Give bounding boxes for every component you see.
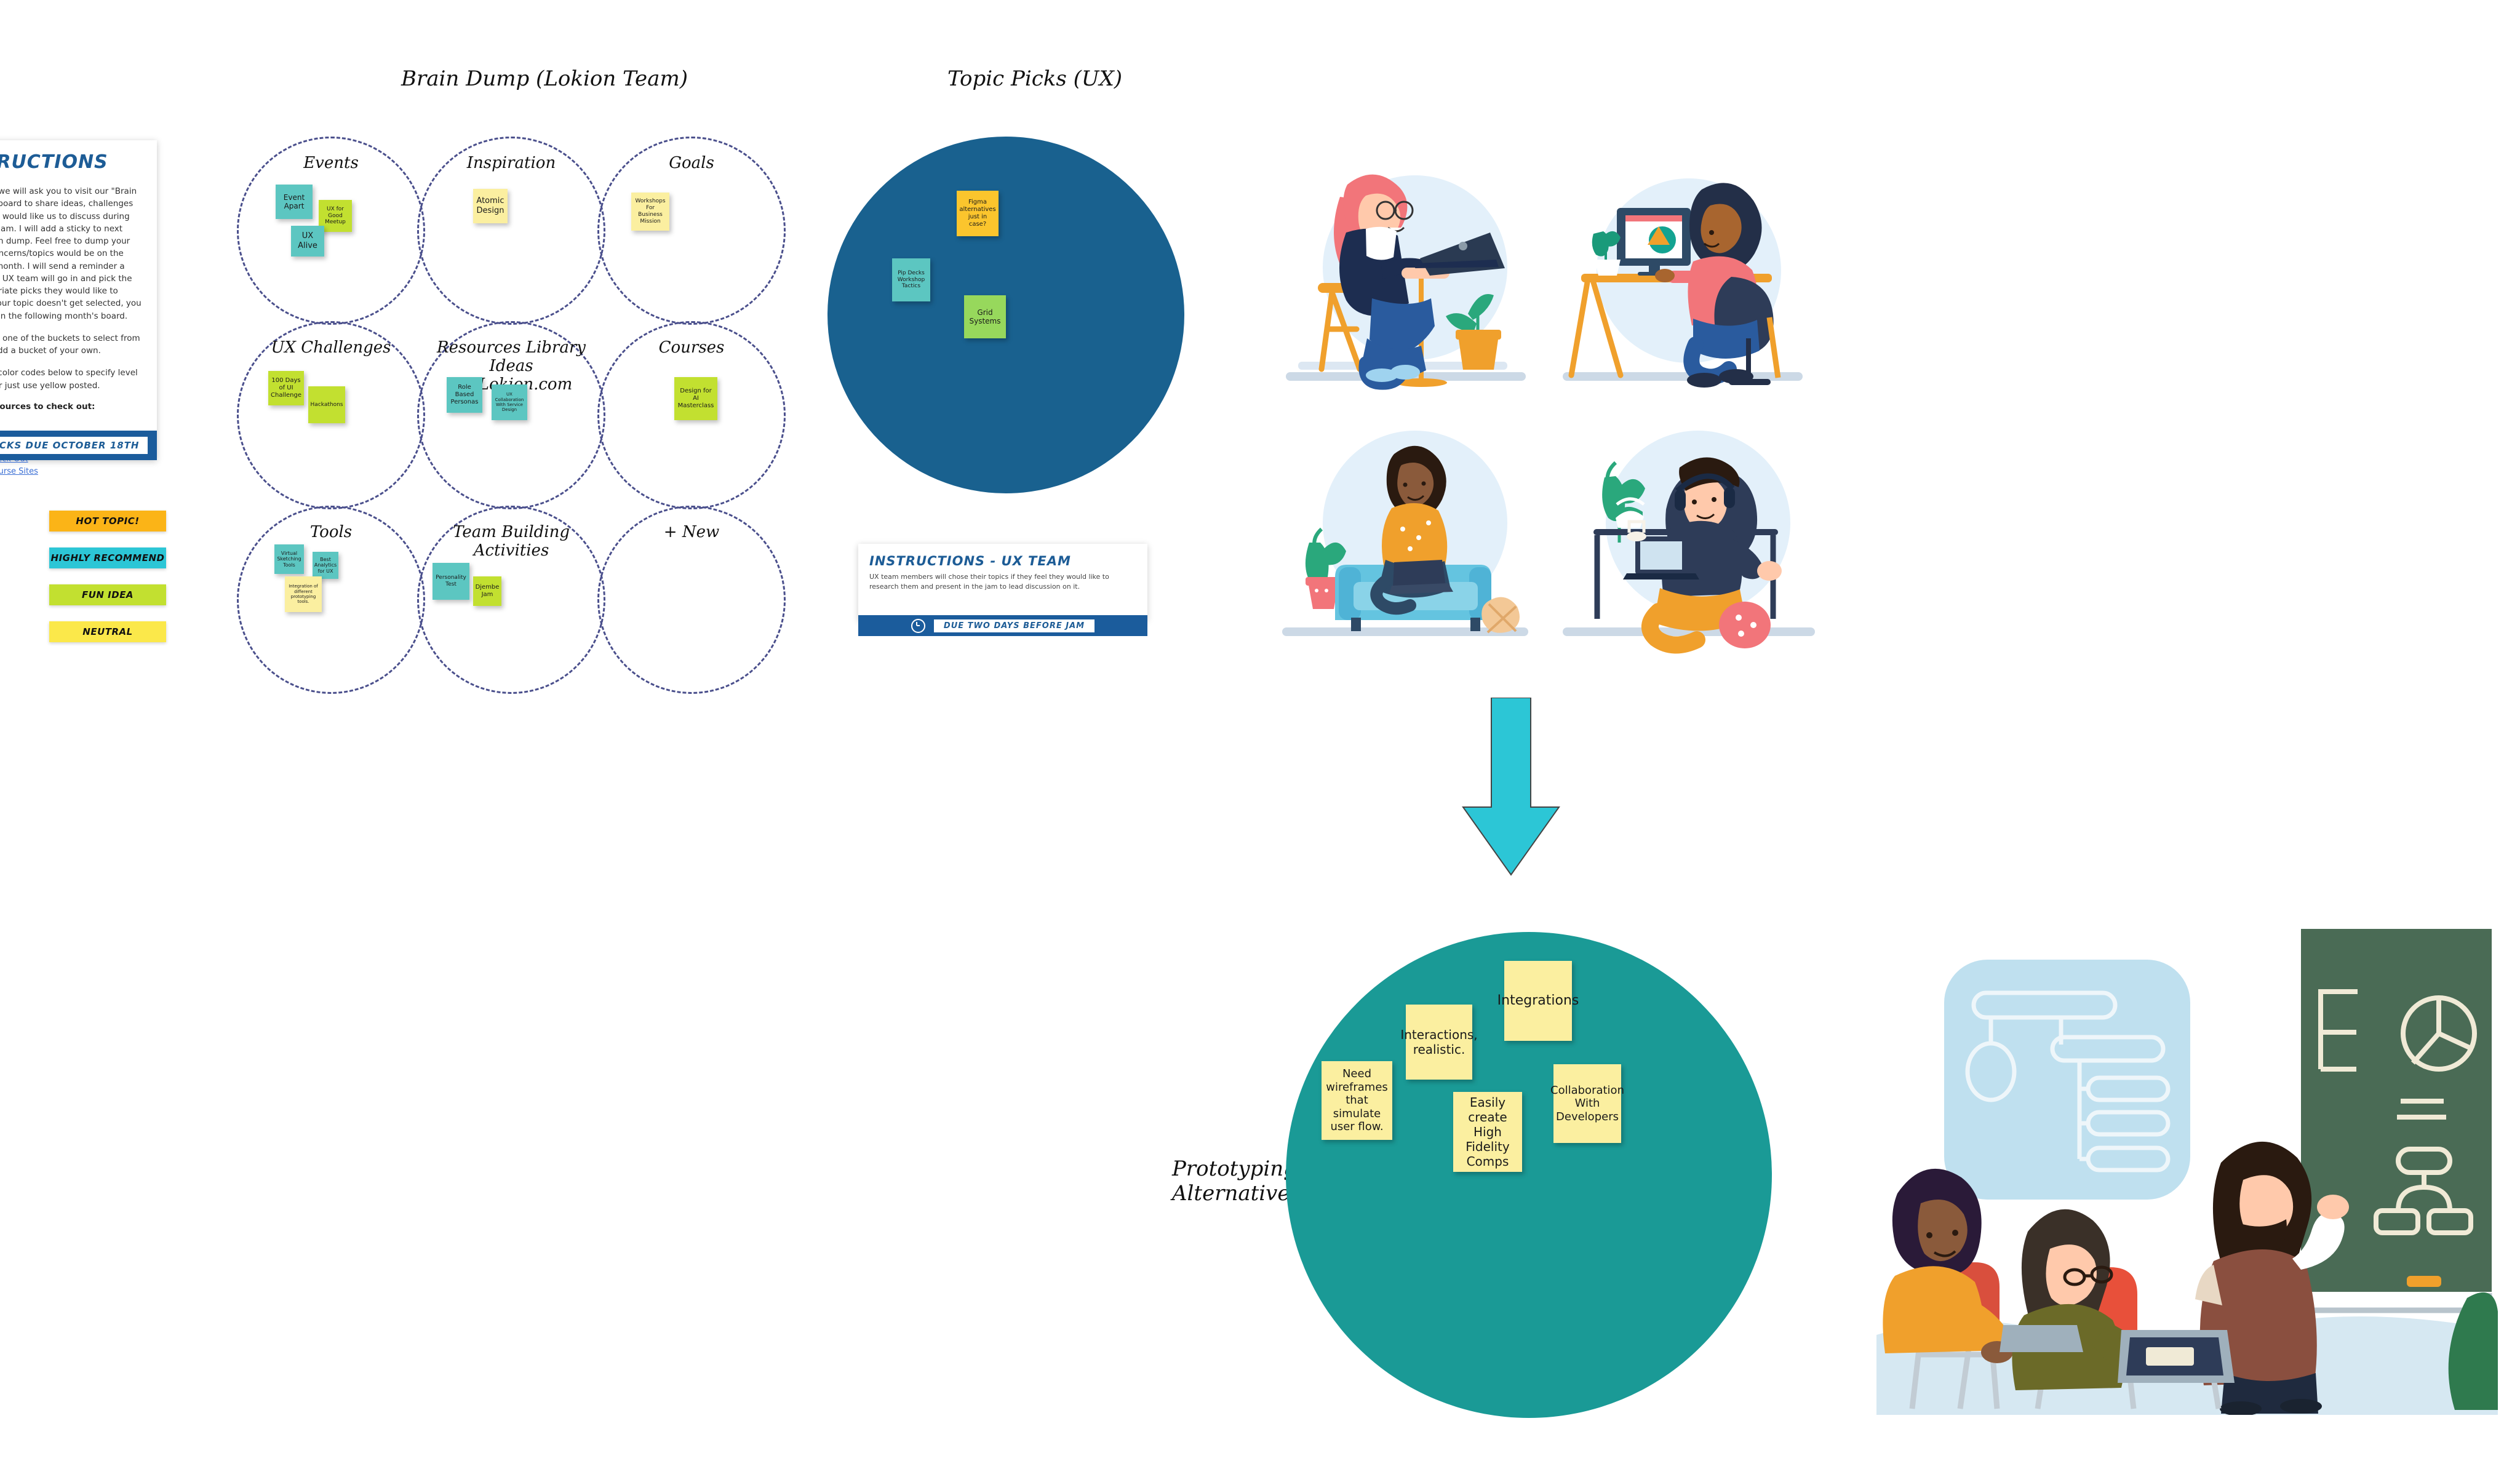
brain-dump-bucket[interactable]: Resources Library Ideas for Lokion.comRo… bbox=[417, 321, 605, 509]
instructions-paragraph-1: Each month we will ask you to visit our … bbox=[0, 185, 143, 322]
sticky-note[interactable]: Workshops For Business Mission bbox=[631, 193, 669, 231]
alarm-clock-icon bbox=[911, 619, 925, 633]
brain-dump-bucket[interactable]: EventsEvent ApartUX for Good MeetupUX Al… bbox=[237, 137, 425, 325]
brain-dump-title: Brain Dump (Lokion Team) bbox=[401, 66, 688, 91]
sticky-note[interactable]: Hackathons bbox=[308, 386, 345, 423]
legend-item-fun-idea[interactable]: FUN IDEA bbox=[49, 584, 166, 605]
brain-dump-bucket[interactable]: ToolsVirtual Sketching ToolsBest Analyti… bbox=[237, 506, 425, 694]
brain-dump-bucket[interactable]: InspirationAtomic Design bbox=[417, 137, 605, 325]
legend-item-highly-recommend[interactable]: HIGHLY RECOMMEND bbox=[49, 547, 166, 568]
sticky-note[interactable]: Interactions, realistic. bbox=[1406, 1005, 1472, 1080]
sticky-note[interactable]: Virtual Sketching Tools bbox=[274, 544, 304, 574]
sticky-note[interactable]: Collaboration With Developers bbox=[1553, 1064, 1621, 1143]
ux-due-banner: DUE TWO DAYS BEFORE JAM bbox=[858, 615, 1147, 636]
arrow-down-icon bbox=[1462, 698, 1560, 876]
ux-due-label: DUE TWO DAYS BEFORE JAM bbox=[934, 619, 1095, 632]
bucket-title: Team Building Activities bbox=[419, 524, 604, 560]
legend-item-label: FUN IDEA bbox=[82, 589, 134, 600]
bucket-title: Inspiration bbox=[419, 154, 604, 173]
topic-picks-circle[interactable] bbox=[827, 137, 1184, 493]
sticky-note[interactable]: Role Based Personas bbox=[447, 377, 482, 413]
instructions-heading: INSTRUCTIONS bbox=[0, 151, 143, 173]
brain-dump-bucket[interactable]: GoalsWorkshops For Business Mission bbox=[597, 137, 786, 325]
sticky-note[interactable]: Pip Decks Workshop Tactics bbox=[892, 258, 930, 301]
legend-item-label: NEUTRAL bbox=[82, 626, 132, 637]
ux-instructions-heading: INSTRUCTIONS - UX TEAM bbox=[858, 544, 1147, 572]
sticky-note[interactable]: UX Collaboration With Service Design bbox=[492, 384, 527, 420]
resources-heading: Popular resources to check out: bbox=[0, 402, 143, 412]
woman-at-laptop-on-stool-illustration bbox=[1274, 160, 1538, 406]
sticky-note[interactable]: Easily create High Fidelity Comps bbox=[1453, 1092, 1522, 1172]
instructions-paragraph-3: You can use color codes below to specify… bbox=[0, 367, 143, 392]
ux-team-instructions-card[interactable]: INSTRUCTIONS - UX TEAM UX team members w… bbox=[858, 544, 1147, 621]
brain-dump-bucket[interactable]: CoursesDesign for AI Masterclass bbox=[597, 321, 786, 509]
due-banner-label: TOPIC PICKS DUE OCTOBER 18TH bbox=[0, 437, 148, 454]
legend-item-hot-topic[interactable]: HOT TOPIC! bbox=[49, 511, 166, 531]
topic-picks-title: Topic Picks (UX) bbox=[947, 66, 1122, 91]
sticky-note[interactable]: Djembe Jam bbox=[473, 576, 501, 606]
man-with-headphones-beanbag-illustration bbox=[1557, 406, 1827, 658]
legend-item-label: HIGHLY RECOMMEND bbox=[51, 552, 165, 563]
legend-item-label: HOT TOPIC! bbox=[76, 516, 139, 527]
sticky-note[interactable]: Need wireframes that simulate user flow. bbox=[1322, 1061, 1392, 1140]
brain-dump-bucket[interactable]: Team Building ActivitiesPersonality Test… bbox=[417, 506, 605, 694]
woman-on-couch-with-laptop-illustration bbox=[1274, 406, 1544, 658]
instructions-paragraph-2: Please chose one of the buckets to selec… bbox=[0, 332, 143, 357]
resource-link-courses[interactable]: Online UX Course Sites bbox=[0, 467, 143, 476]
topic-picks-due-banner: TOPIC PICKS DUE OCTOBER 18TH bbox=[0, 431, 157, 460]
bucket-title: Goals bbox=[599, 154, 784, 173]
sticky-note[interactable]: Event Apart bbox=[276, 185, 313, 219]
prototyping-alternatives-label: Prototyping Alternatives bbox=[1172, 1156, 1301, 1206]
color-code-legend: HOT TOPIC!HIGHLY RECOMMENDFUN IDEANEUTRA… bbox=[49, 511, 166, 658]
instructions-panel[interactable]: INSTRUCTIONS Each month we will ask you … bbox=[0, 140, 157, 460]
sticky-note[interactable]: 100 Days of UI Challenge bbox=[268, 371, 304, 405]
bucket-title: Events bbox=[239, 154, 423, 173]
miro-board-canvas[interactable]: INSTRUCTIONS Each month we will ask you … bbox=[0, 0, 2520, 1469]
legend-item-neutral[interactable]: NEUTRAL bbox=[49, 621, 166, 642]
bucket-title: UX Challenges bbox=[239, 339, 423, 357]
resource-link-blogs[interactable]: Blogs bbox=[0, 418, 143, 427]
bucket-title: Tools bbox=[239, 524, 423, 542]
brain-dump-bucket[interactable]: + New bbox=[597, 506, 786, 694]
sticky-note[interactable]: Figma alternatives just in case? bbox=[957, 191, 999, 236]
brain-dump-bucket[interactable]: UX Challenges100 Days of UI ChallengeHac… bbox=[237, 321, 425, 509]
ux-instructions-body: UX team members will chose their topics … bbox=[858, 572, 1147, 592]
bucket-title: + New bbox=[599, 524, 784, 542]
sticky-note[interactable]: Atomic Design bbox=[473, 189, 508, 223]
sticky-note[interactable]: Grid Systems bbox=[964, 295, 1006, 338]
bucket-title: Courses bbox=[599, 339, 784, 357]
team-workshop-whiteboard-illustration bbox=[1876, 917, 2498, 1415]
sticky-note[interactable]: Integration of different prototyping too… bbox=[285, 576, 322, 612]
sticky-note[interactable]: Integrations bbox=[1504, 961, 1572, 1041]
sticky-note[interactable]: Best Analytics for UX bbox=[313, 552, 338, 579]
sticky-note[interactable]: Design for AI Masterclass bbox=[674, 377, 717, 420]
man-at-desktop-computer-illustration bbox=[1557, 154, 1815, 406]
sticky-note[interactable]: UX Alive bbox=[291, 226, 324, 257]
sticky-note[interactable]: Personality Test bbox=[433, 563, 469, 600]
